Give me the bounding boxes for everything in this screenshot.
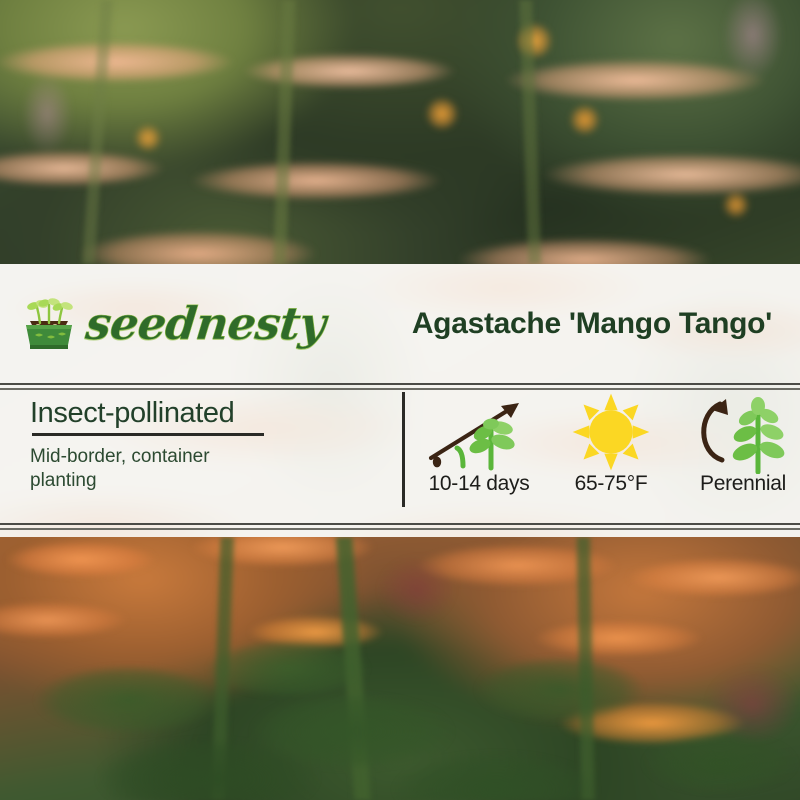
usage-subline: Mid-border, container planting	[30, 445, 280, 491]
life-cycle-label: Perennial	[700, 472, 786, 496]
divider-bottom	[0, 523, 800, 530]
pollination-headline: Insect-pollinated	[30, 398, 382, 428]
divider-top	[0, 383, 800, 390]
photo-bottom-leaves-layer	[0, 537, 800, 800]
brand-logo[interactable]: seednesty	[18, 295, 325, 353]
seedling-tray-icon	[18, 295, 80, 353]
sun-icon	[571, 390, 651, 474]
product-title: Agastache 'Mango Tango'	[412, 307, 772, 341]
product-photo-bottom	[0, 537, 800, 800]
attribute-temperature: 65-75°F	[545, 390, 677, 496]
perennial-cycle-plant-icon	[688, 390, 798, 474]
product-photo-top	[0, 0, 800, 264]
germination-sprout-arrow-icon	[419, 390, 539, 474]
headline-underline	[32, 433, 264, 436]
germination-time-label: 10-14 days	[429, 472, 530, 496]
details-text-block: Insect-pollinated Mid-border, container …	[0, 390, 402, 523]
band-header: seednesty Agastache 'Mango Tango'	[0, 264, 800, 383]
photo-top-stems-layer	[0, 0, 800, 264]
attribute-icons-row: 10-14 days	[405, 390, 800, 523]
attribute-life-cycle: Perennial	[677, 390, 800, 496]
brand-name: seednesty	[84, 301, 327, 346]
details-row: Insect-pollinated Mid-border, container …	[0, 390, 800, 523]
attribute-germination-time: 10-14 days	[413, 390, 545, 496]
info-band: seednesty Agastache 'Mango Tango' Insect…	[0, 264, 800, 537]
seed-packet-card: seednesty Agastache 'Mango Tango' Insect…	[0, 0, 800, 800]
temperature-label: 65-75°F	[575, 472, 648, 496]
